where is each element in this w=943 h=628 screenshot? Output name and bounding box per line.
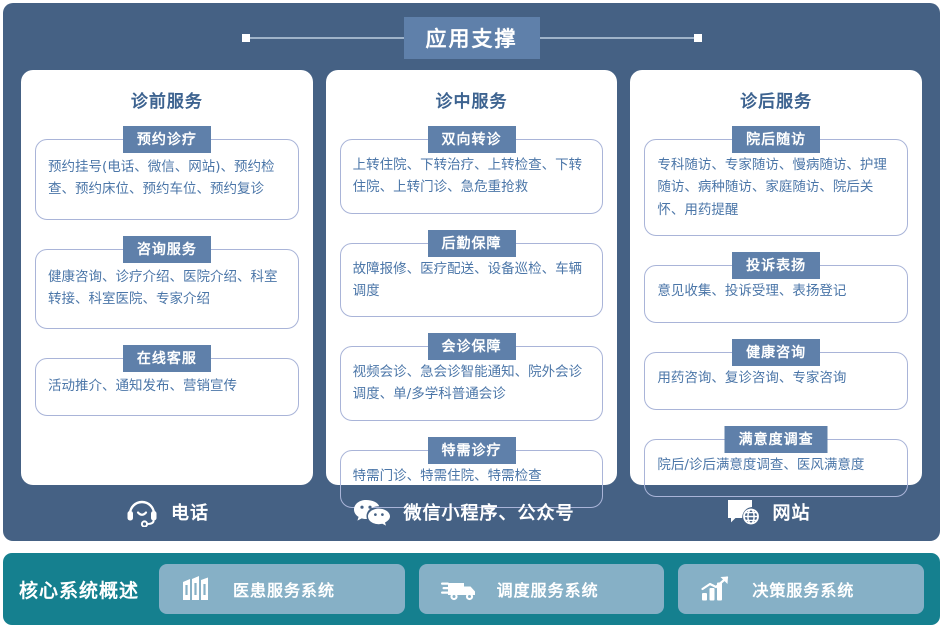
section-badge: 院后随访 — [732, 126, 820, 153]
channel-wechat[interactable]: 微信小程序、公众号 — [313, 497, 613, 527]
wechat-icon — [352, 497, 392, 527]
section-online-service[interactable]: 在线客服 活动推介、通知发布、营销宣传 — [35, 345, 299, 416]
page-title: 应用支撑 — [404, 17, 540, 59]
channel-label: 微信小程序、公众号 — [404, 499, 575, 525]
channel-label: 电话 — [171, 499, 209, 525]
core-systems-bar: 核心系统概述 医患服务系统 — [3, 553, 940, 625]
section-badge: 后勤保障 — [428, 230, 516, 257]
section-badge: 预约诊疗 — [123, 126, 211, 153]
section-consultation[interactable]: 咨询服务 健康咨询、诊疗介绍、医院介绍、科室转接、科室医院、专家介绍 — [35, 236, 299, 330]
section-consultation-support[interactable]: 会诊保障 视频会诊、急会诊智能通知、院外会诊调度、单/多学科普通会诊 — [340, 333, 604, 421]
column-pre-diagnosis: 诊前服务 预约诊疗 预约挂号(电话、微信、网站)、预约检查、预约床位、预约车位、… — [21, 70, 313, 485]
system-dispatch-service[interactable]: 调度服务系统 — [419, 564, 665, 614]
channel-label: 网站 — [773, 499, 811, 525]
core-systems-title: 核心系统概述 — [19, 576, 145, 603]
section-appointment[interactable]: 预约诊疗 预约挂号(电话、微信、网站)、预约检查、预约床位、预约车位、预约复诊 — [35, 126, 299, 220]
service-columns: 诊前服务 预约诊疗 预约挂号(电话、微信、网站)、预约检查、预约床位、预约车位、… — [21, 70, 922, 485]
column-title: 诊前服务 — [35, 87, 299, 112]
building-icon — [181, 574, 215, 604]
column-title: 诊后服务 — [644, 87, 908, 112]
column-post-diagnosis: 诊后服务 院后随访 专科随访、专家随访、慢病随访、护理随访、病种随访、家庭随访、… — [630, 70, 922, 485]
channel-website[interactable]: 网站 — [613, 497, 922, 527]
website-icon — [725, 497, 761, 527]
column-title: 诊中服务 — [340, 87, 604, 112]
section-badge: 投诉表扬 — [732, 252, 820, 279]
chart-growth-icon — [700, 574, 734, 604]
application-support-panel: 应用支撑 诊前服务 预约诊疗 预约挂号(电话、微信、网站)、预约检查、预约床位、… — [3, 3, 940, 541]
section-badge: 健康咨询 — [732, 339, 820, 366]
column-during-diagnosis: 诊中服务 双向转诊 上转住院、下转治疗、上转检查、下转住院、上转门诊、急危重抢救… — [326, 70, 618, 485]
truck-icon — [441, 574, 479, 604]
section-badge: 咨询服务 — [123, 236, 211, 263]
section-badge: 会诊保障 — [428, 333, 516, 360]
infographic-root: 应用支撑 诊前服务 预约诊疗 预约挂号(电话、微信、网站)、预约检查、预约床位、… — [0, 0, 943, 628]
section-badge: 在线客服 — [123, 345, 211, 372]
section-logistics[interactable]: 后勤保障 故障报修、医疗配送、设备巡检、车辆调度 — [340, 230, 604, 318]
section-complaint-praise[interactable]: 投诉表扬 意见收集、投诉受理、表扬登记 — [644, 252, 908, 323]
connector-line-right — [540, 37, 700, 39]
system-label: 决策服务系统 — [752, 577, 854, 601]
channel-phone[interactable]: 电话 — [21, 497, 313, 527]
system-patient-service[interactable]: 医患服务系统 — [159, 564, 405, 614]
section-two-way-referral[interactable]: 双向转诊 上转住院、下转治疗、上转检查、下转住院、上转门诊、急危重抢救 — [340, 126, 604, 214]
section-badge: 特需诊疗 — [428, 437, 516, 464]
section-badge: 双向转诊 — [428, 126, 516, 153]
system-decision-service[interactable]: 决策服务系统 — [678, 564, 924, 614]
channel-strip: 电话 微信小程序、公众号 — [21, 487, 922, 537]
panel-title-band: 应用支撑 — [3, 17, 940, 59]
system-label: 调度服务系统 — [497, 577, 599, 601]
headset-icon — [125, 497, 159, 527]
section-health-consultation[interactable]: 健康咨询 用药咨询、复诊咨询、专家咨询 — [644, 339, 908, 410]
connector-line-left — [244, 37, 404, 39]
system-label: 医患服务系统 — [233, 577, 335, 601]
section-badge: 满意度调查 — [725, 426, 828, 453]
section-body: 专科随访、专家随访、慢病随访、护理随访、病种随访、家庭随访、院后关怀、用药提醒 — [644, 139, 908, 236]
section-follow-up[interactable]: 院后随访 专科随访、专家随访、慢病随访、护理随访、病种随访、家庭随访、院后关怀、… — [644, 126, 908, 236]
